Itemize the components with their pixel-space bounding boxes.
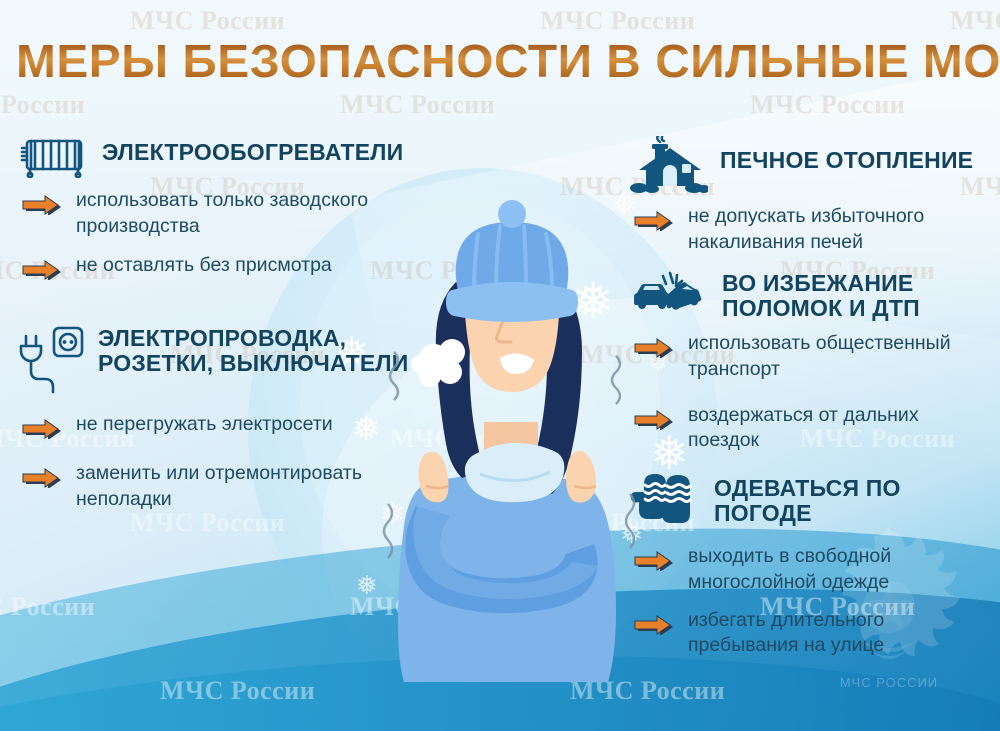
plug-socket-icon (18, 322, 86, 396)
bullet-item: заменить или отремонтировать неполадки (18, 461, 418, 512)
bullet-item: выходить в свободной многослойной одежде (630, 544, 1000, 595)
section-electric-wiring: ЭЛЕКТРОПРОВОДКА, РОЗЕТКИ, ВЫКЛЮЧАТЕЛИ не… (18, 322, 418, 512)
bullet-item: использовать общественный транспорт (630, 331, 1000, 382)
bullet-text: не перегружать электросети (76, 412, 333, 438)
bullet-item: избегать длительного пребывания на улице (630, 608, 1000, 659)
bullet-text: не оставлять без присмотра (76, 253, 332, 279)
bullet-list: не перегружать электросети заменить или … (18, 412, 418, 512)
section-electric-heaters: ЭЛЕКТРООБОГРЕВАТЕЛИ использовать только … (18, 136, 418, 280)
page-title: МЕРЫ БЕЗОПАСНОСТИ В СИЛЬНЫЕ МОРОЗЫ (16, 34, 1000, 88)
section-header: ОДЕВАТЬСЯ ПО ПОГОДЕ (630, 468, 1000, 534)
bullet-item: не перегружать электросети (18, 412, 418, 439)
bullet-list: выходить в свободной многослойной одежде… (630, 544, 1000, 659)
bullet-item: не допускать избыточного накаливания печ… (630, 204, 1000, 255)
section-header: ВО ИЗБЕЖАНИЕ ПОЛОМОК И ДТП (630, 269, 1000, 321)
poster-root: МЧС России МЧС России МЧС России МЧС Рос… (0, 0, 1000, 731)
bullet-text: выходить в свободной многослойной одежде (688, 544, 978, 595)
bullet-text: использовать общественный транспорт (688, 331, 978, 382)
section-heading: ВО ИЗБЕЖАНИЕ ПОЛОМОК И ДТП (722, 269, 1000, 321)
bullet-item: не оставлять без присмотра (18, 253, 418, 280)
arrow-right-icon (18, 193, 64, 215)
radiator-icon (18, 136, 90, 178)
arrow-right-icon (18, 417, 64, 439)
bullet-item: воздержаться от дальних поездок (630, 403, 1000, 454)
emblem-caption: МЧС РОССИИ (840, 675, 938, 690)
bullet-text: заменить или отремонтировать неполадки (76, 461, 376, 512)
section-header: ЭЛЕКТРОПРОВОДКА, РОЗЕТКИ, ВЫКЛЮЧАТЕЛИ (18, 322, 418, 396)
section-stove-heating: ПЕЧНОЕ ОТОПЛЕНИЕ не допускать избыточног… (630, 136, 1000, 255)
shivering-woman-illustration (360, 186, 660, 731)
left-column: ЭЛЕКТРООБОГРЕВАТЕЛИ использовать только … (18, 136, 418, 527)
section-vehicle-accidents: ВО ИЗБЕЖАНИЕ ПОЛОМОК И ДТП использовать … (630, 269, 1000, 454)
bullet-text: воздержаться от дальних поездок (688, 403, 978, 454)
bullet-list: использовать только заводского производс… (18, 188, 418, 280)
bullet-list: не допускать избыточного накаливания печ… (630, 204, 1000, 255)
bullet-text: избегать длительного пребывания на улице (688, 608, 978, 659)
bullet-list: использовать общественный транспорт возд… (630, 331, 1000, 454)
arrow-right-icon (18, 466, 64, 488)
arrow-right-icon (18, 258, 64, 280)
section-header: ЭЛЕКТРООБОГРЕВАТЕЛИ (18, 136, 418, 178)
bullet-text: использовать только заводского производс… (76, 188, 376, 239)
bullet-item: использовать только заводского производс… (18, 188, 418, 239)
section-heading: ПЕЧНОЕ ОТОПЛЕНИЕ (720, 136, 973, 173)
section-heading: ОДЕВАТЬСЯ ПО ПОГОДЕ (714, 468, 1000, 526)
section-heading: ЭЛЕКТРООБОГРЕВАТЕЛИ (102, 136, 403, 165)
section-dress-for-weather: ОДЕВАТЬСЯ ПО ПОГОДЕ выходить в свободной… (630, 468, 1000, 659)
right-column: ПЕЧНОЕ ОТОПЛЕНИЕ не допускать избыточног… (630, 136, 1000, 673)
section-header: ПЕЧНОЕ ОТОПЛЕНИЕ (630, 136, 1000, 194)
bullet-text: не допускать избыточного накаливания печ… (688, 204, 978, 255)
